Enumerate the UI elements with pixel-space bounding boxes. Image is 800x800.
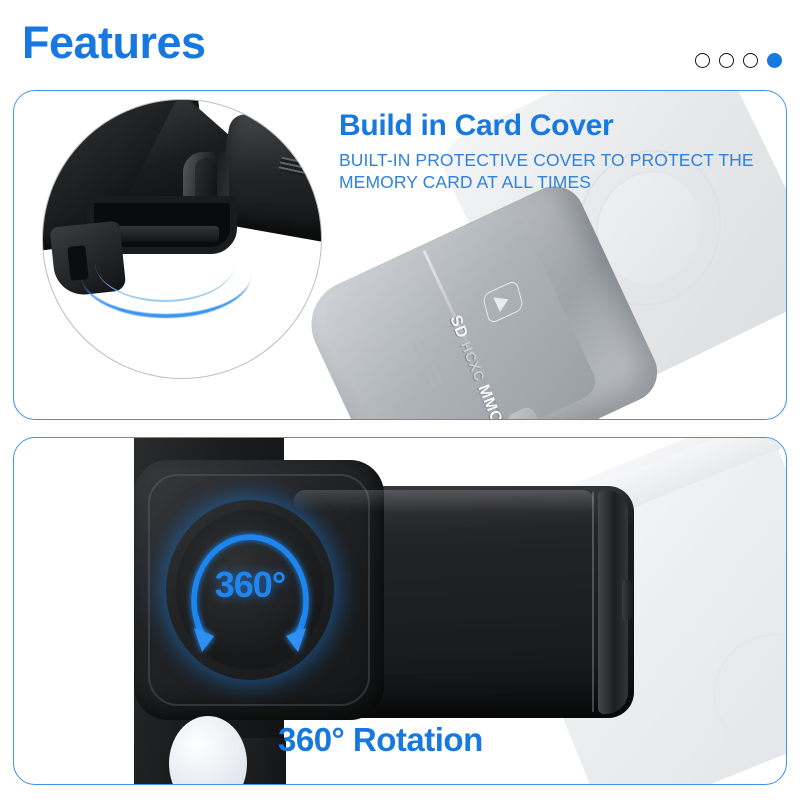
- pager-dot-2[interactable]: [719, 53, 734, 68]
- hinge-motion-arc-highlight: [95, 224, 235, 302]
- pager-dot-3[interactable]: [743, 53, 758, 68]
- rotation-ring-value: 360°: [166, 564, 334, 606]
- panel-subheading: BUILT-IN PROTECTIVE COVER TO PROTECT THE…: [339, 149, 787, 193]
- device-arm-gloss: [294, 490, 594, 512]
- page-header: Features: [0, 0, 800, 90]
- device-arm-side-bump: [622, 580, 634, 620]
- pager-dot-4-active[interactable]: [767, 53, 782, 68]
- card-cover-hinge-photo: [42, 99, 322, 379]
- pager-dots[interactable]: [695, 53, 782, 68]
- rotation-ring-graphic: 360°: [166, 500, 334, 680]
- feature-panel-rotation: 360° 360° Rotation: [13, 437, 787, 785]
- pager-dot-1[interactable]: [695, 53, 710, 68]
- page-title: Features: [22, 20, 206, 65]
- feature-panel-card-cover: SD HCXC MMC RS&4.0 Build in Card Cover B…: [13, 90, 787, 420]
- device-arm-seam: [592, 492, 594, 712]
- panel-heading: Build in Card Cover: [339, 109, 613, 143]
- panel-caption: 360° Rotation: [278, 721, 483, 759]
